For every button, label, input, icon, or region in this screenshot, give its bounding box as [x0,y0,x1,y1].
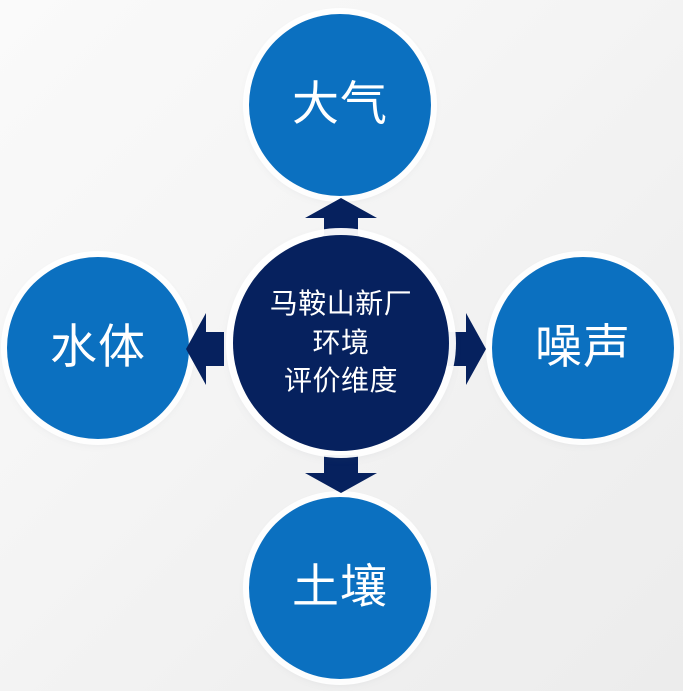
arrow-left-icon [186,313,224,385]
node-circle-bottom[interactable]: 土壤 [249,497,431,679]
center-hub-text: 马鞍山新厂 环境 评价维度 [270,285,413,401]
diagram-canvas: 大气 水体 噪声 土壤 马鞍山新厂 环境 评价维度 [0,0,683,691]
center-hub-line-2: 环境 [270,324,413,363]
center-hub-line-1: 马鞍山新厂 [270,285,413,324]
arrow-up-icon [305,198,377,236]
arrow-down-icon [305,455,377,493]
node-label-top: 大气 [292,80,388,129]
center-hub-line-3: 评价维度 [270,362,413,401]
node-label-bottom: 土壤 [292,563,388,612]
node-circle-left[interactable]: 水体 [7,257,189,439]
node-label-left: 水体 [50,323,146,372]
center-hub-circle[interactable]: 马鞍山新厂 环境 评价维度 [233,235,449,451]
node-circle-top[interactable]: 大气 [249,14,431,196]
arrow-right-icon [448,313,486,385]
node-label-right: 噪声 [535,323,631,372]
node-circle-right[interactable]: 噪声 [492,257,674,439]
